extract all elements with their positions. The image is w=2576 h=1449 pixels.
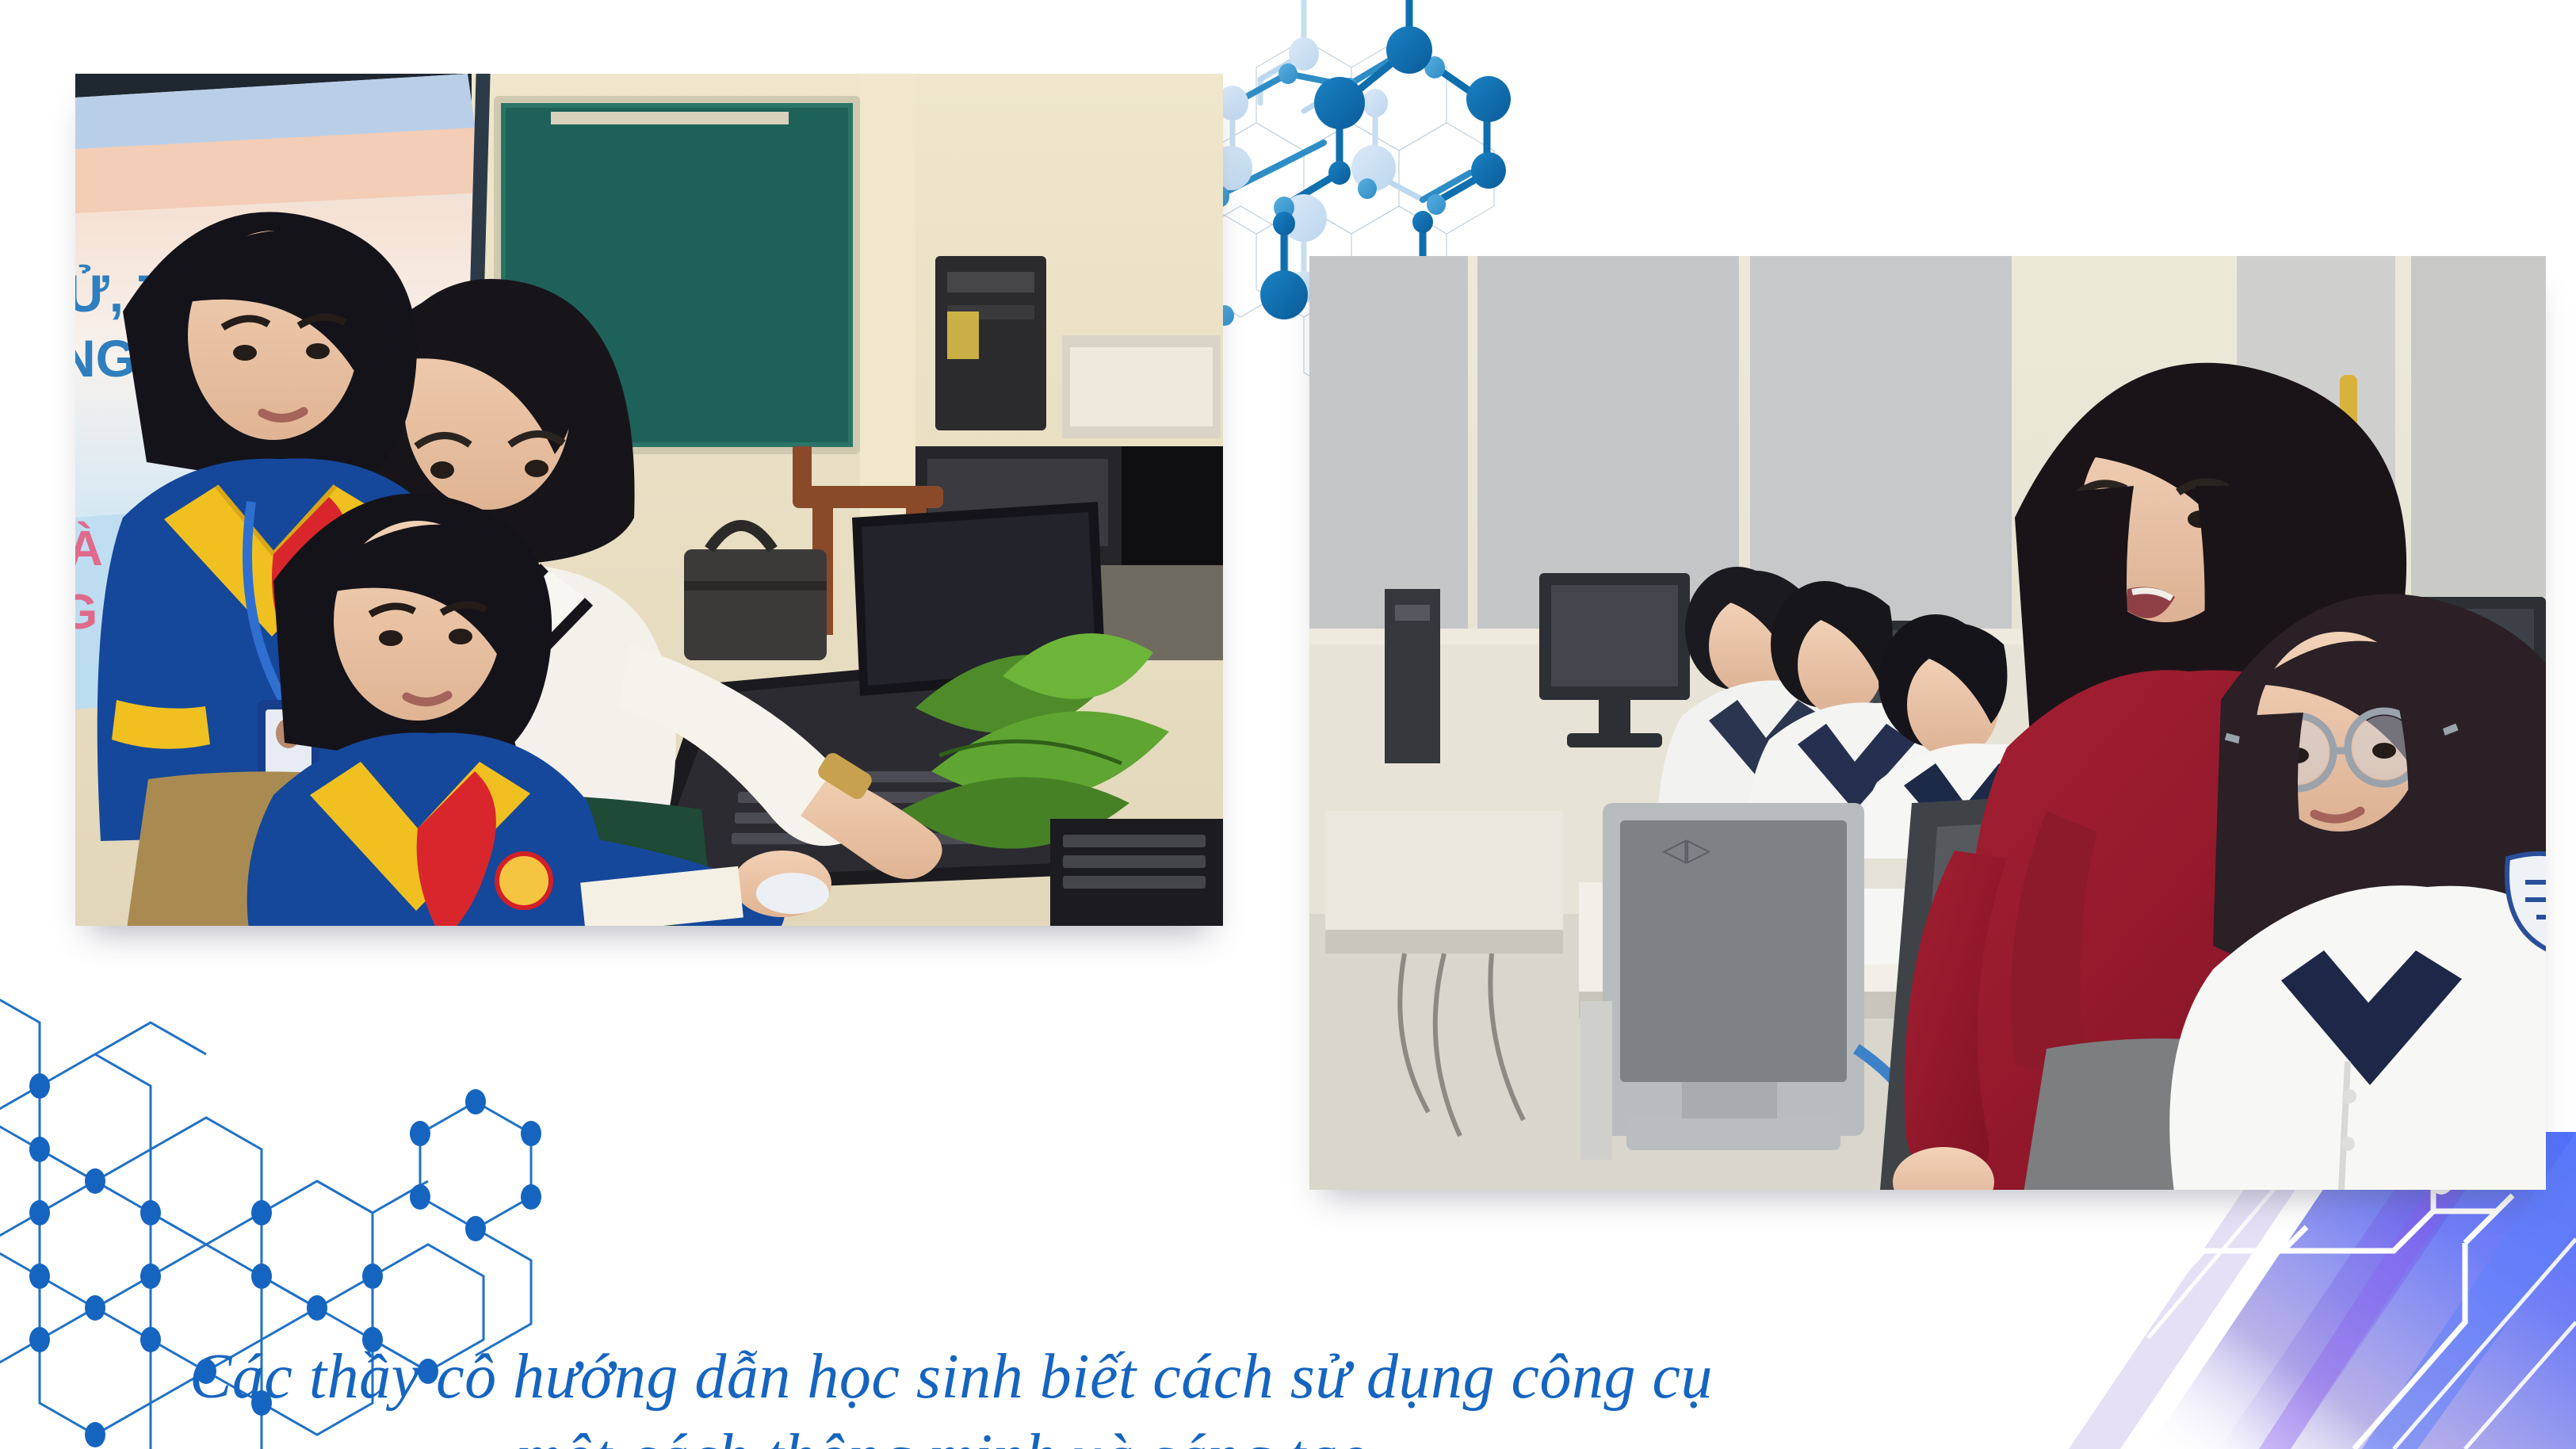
computer-lab-photo-right: ◁▷ — [1309, 256, 2546, 1190]
slide-canvas: Ử, TÌM KI NG TIN À MỘT G T NET — [0, 0, 2576, 1449]
classroom-photo-left: Ử, TÌM KI NG TIN À MỘT G T NET — [75, 74, 1223, 926]
caption-line-2: một cách thông minh và sáng tạo. — [0, 1417, 1902, 1449]
caption-text: Các thầy cô hướng dẫn học sinh biết cách… — [0, 1257, 1902, 1449]
caption-line-1: Các thầy cô hướng dẫn học sinh biết cách… — [189, 1342, 1713, 1412]
svg-text:◁▷: ◁▷ — [1662, 832, 1711, 867]
